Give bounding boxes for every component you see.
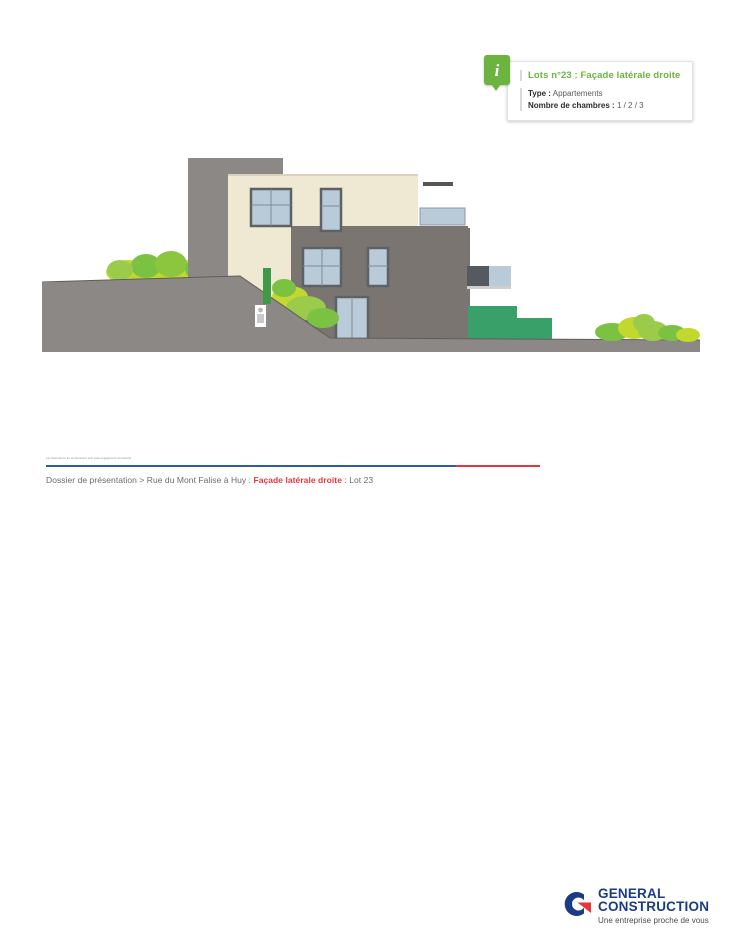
tooltip-row-bedrooms-label: Nombre de chambres : bbox=[528, 101, 615, 110]
scale-figure bbox=[255, 305, 266, 327]
tooltip-row-bedrooms-value: 1 / 2 / 3 bbox=[617, 101, 644, 110]
roof-bar bbox=[423, 182, 453, 186]
footer-divider-red bbox=[456, 465, 540, 467]
info-icon[interactable]: i bbox=[484, 55, 510, 85]
footer-divider bbox=[46, 465, 540, 467]
canopy-upper-right bbox=[420, 208, 465, 225]
tooltip-title: Lots n°23 : Façade latérale droite bbox=[520, 70, 680, 81]
terrace-green bbox=[468, 306, 552, 340]
breadcrumb-prefix: Dossier de présentation > Rue du Mont Fa… bbox=[46, 475, 253, 485]
tooltip-card: Lots n°23 : Façade latérale droite Type … bbox=[507, 61, 693, 121]
window-mid-right bbox=[368, 248, 388, 286]
window-upper-left bbox=[251, 189, 291, 226]
tooltip-row-type-label: Type : bbox=[528, 89, 551, 98]
logo-tagline: Une entreprise proche de vous bbox=[598, 916, 709, 925]
tooltip-row-type-value: Appartements bbox=[553, 89, 603, 98]
tooltip-rows: Type : Appartements Nombre de chambres :… bbox=[520, 88, 680, 111]
disclaimer-text: Les illustrations de ce document sont sa… bbox=[46, 457, 131, 460]
vegetation-right bbox=[595, 314, 700, 342]
tooltip-row-type: Type : Appartements bbox=[528, 88, 680, 100]
window-ground-door bbox=[336, 297, 368, 340]
logo-wordmark: GENERAL CONSTRUCTION Une entreprise proc… bbox=[598, 887, 709, 925]
company-logo: GENERAL CONSTRUCTION Une entreprise proc… bbox=[560, 887, 705, 932]
info-icon-glyph: i bbox=[495, 62, 500, 79]
slide-footer: Les illustrations de ce document sont sa… bbox=[0, 440, 736, 521]
breadcrumb: Dossier de présentation > Rue du Mont Fa… bbox=[46, 475, 373, 485]
lot-info-tooltip[interactable]: i Lots n°23 : Façade latérale droite Typ… bbox=[484, 55, 693, 121]
logo-line-2: CONSTRUCTION bbox=[598, 900, 709, 913]
footer-divider-blue bbox=[46, 465, 456, 467]
green-post bbox=[263, 268, 271, 304]
breadcrumb-suffix: : Lot 23 bbox=[342, 475, 373, 485]
general-construction-logomark bbox=[560, 889, 594, 919]
tooltip-row-bedrooms: Nombre de chambres : 1 / 2 / 3 bbox=[528, 100, 680, 112]
breadcrumb-highlight: Façade latérale droite bbox=[253, 475, 342, 485]
logo-line-1: GENERAL bbox=[598, 887, 709, 900]
window-mid-left bbox=[303, 248, 341, 286]
window-upper-right bbox=[321, 189, 341, 231]
presentation-slide: i Lots n°23 : Façade latérale droite Typ… bbox=[0, 0, 736, 521]
canopy-lower-right bbox=[467, 266, 511, 289]
